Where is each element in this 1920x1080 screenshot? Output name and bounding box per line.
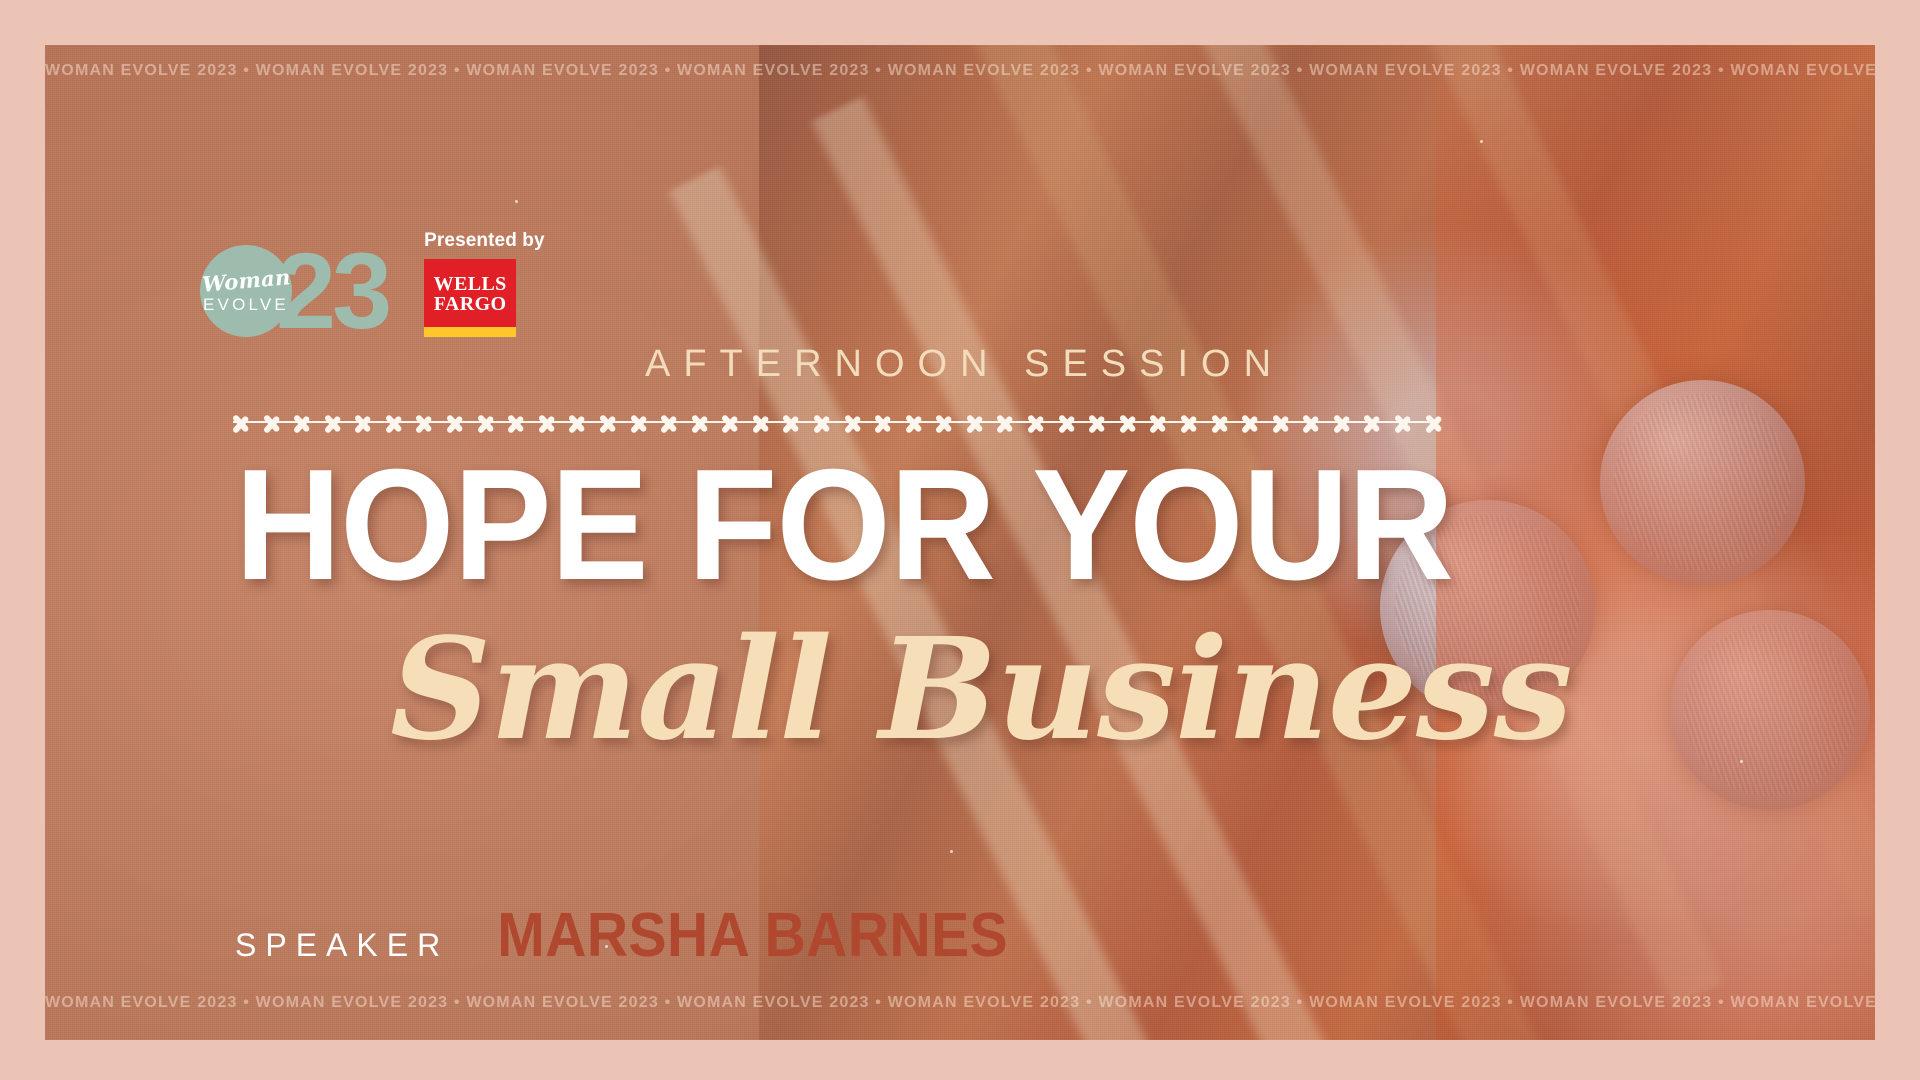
chevron-icon	[508, 407, 525, 441]
chevron-icon	[1395, 407, 1412, 441]
speaker-name: MARSHA BARNES	[497, 900, 1008, 971]
session-label: AFTERNOON SESSION	[645, 343, 1284, 386]
chevron-icon	[753, 407, 770, 441]
chevron-icon	[1120, 407, 1137, 441]
logo-row: Woman EVOLVE 23 Presented by WELLS FARGO	[200, 230, 545, 337]
chevron-icon	[325, 407, 342, 441]
chevron-icon	[1334, 407, 1351, 441]
poster-content: Woman EVOLVE 23 Presented by WELLS FARGO…	[45, 45, 1875, 1040]
chevron-icon	[478, 407, 495, 441]
chevron-icon	[539, 407, 556, 441]
year-badge: 23	[276, 247, 388, 336]
chevron-icon	[1242, 407, 1259, 441]
chevron-icon	[264, 407, 281, 441]
poster-frame: WOMAN EVOLVE 2023 • WOMAN EVOLVE 2023 • …	[0, 0, 1920, 1080]
chevron-icon	[845, 407, 862, 441]
chevron-icon	[1303, 407, 1320, 441]
chevron-icon	[233, 407, 250, 441]
presented-by-label: Presented by	[424, 230, 545, 252]
chevron-icon	[661, 407, 678, 441]
chevron-icon	[967, 407, 984, 441]
chevron-icon	[1089, 407, 1106, 441]
chevron-icon	[569, 407, 586, 441]
chevron-icon	[1364, 407, 1381, 441]
chevron-icon	[692, 407, 709, 441]
chevron-icon	[416, 407, 433, 441]
chevron-icon	[294, 407, 311, 441]
headline-primary: HOPE FOR YOUR	[235, 453, 1453, 598]
chevron-icon	[722, 407, 739, 441]
chevron-icon	[1426, 407, 1443, 441]
chevron-icon	[631, 407, 648, 441]
poster-stage: WOMAN EVOLVE 2023 • WOMAN EVOLVE 2023 • …	[45, 45, 1875, 1040]
chevron-icon	[936, 407, 953, 441]
woman-evolve-circle-icon: Woman EVOLVE	[200, 245, 292, 337]
chevron-icon	[600, 407, 617, 441]
chevron-icon	[386, 407, 403, 441]
chevron-icon	[875, 407, 892, 441]
wells-fargo-line1: WELLS	[434, 274, 507, 294]
chevron-icon	[1028, 407, 1045, 441]
chevron-icon	[814, 407, 831, 441]
woman-evolve-caps-word: EVOLVE	[203, 296, 289, 313]
woman-evolve-logo: Woman EVOLVE 23	[200, 245, 388, 337]
chevron-icon	[1059, 407, 1076, 441]
wells-fargo-line2: FARGO	[434, 294, 507, 314]
chevron-icon	[1150, 407, 1167, 441]
chevron-icon	[1181, 407, 1198, 441]
sponsor-block: Presented by WELLS FARGO	[424, 230, 545, 337]
chevron-icon	[1273, 407, 1290, 441]
wells-fargo-logo: WELLS FARGO	[424, 259, 516, 337]
headline-script: Small Business	[390, 620, 1572, 760]
chevron-icon	[997, 407, 1014, 441]
chevron-icon	[355, 407, 372, 441]
woman-evolve-script-word: Woman	[201, 266, 291, 295]
speaker-row: SPEAKER MARSHA BARNES	[235, 900, 1031, 971]
chevron-icon	[1212, 407, 1229, 441]
chevron-icon	[783, 407, 800, 441]
chevron-icon	[906, 407, 923, 441]
chevron-icon	[447, 407, 464, 441]
speaker-label: SPEAKER	[235, 927, 449, 964]
